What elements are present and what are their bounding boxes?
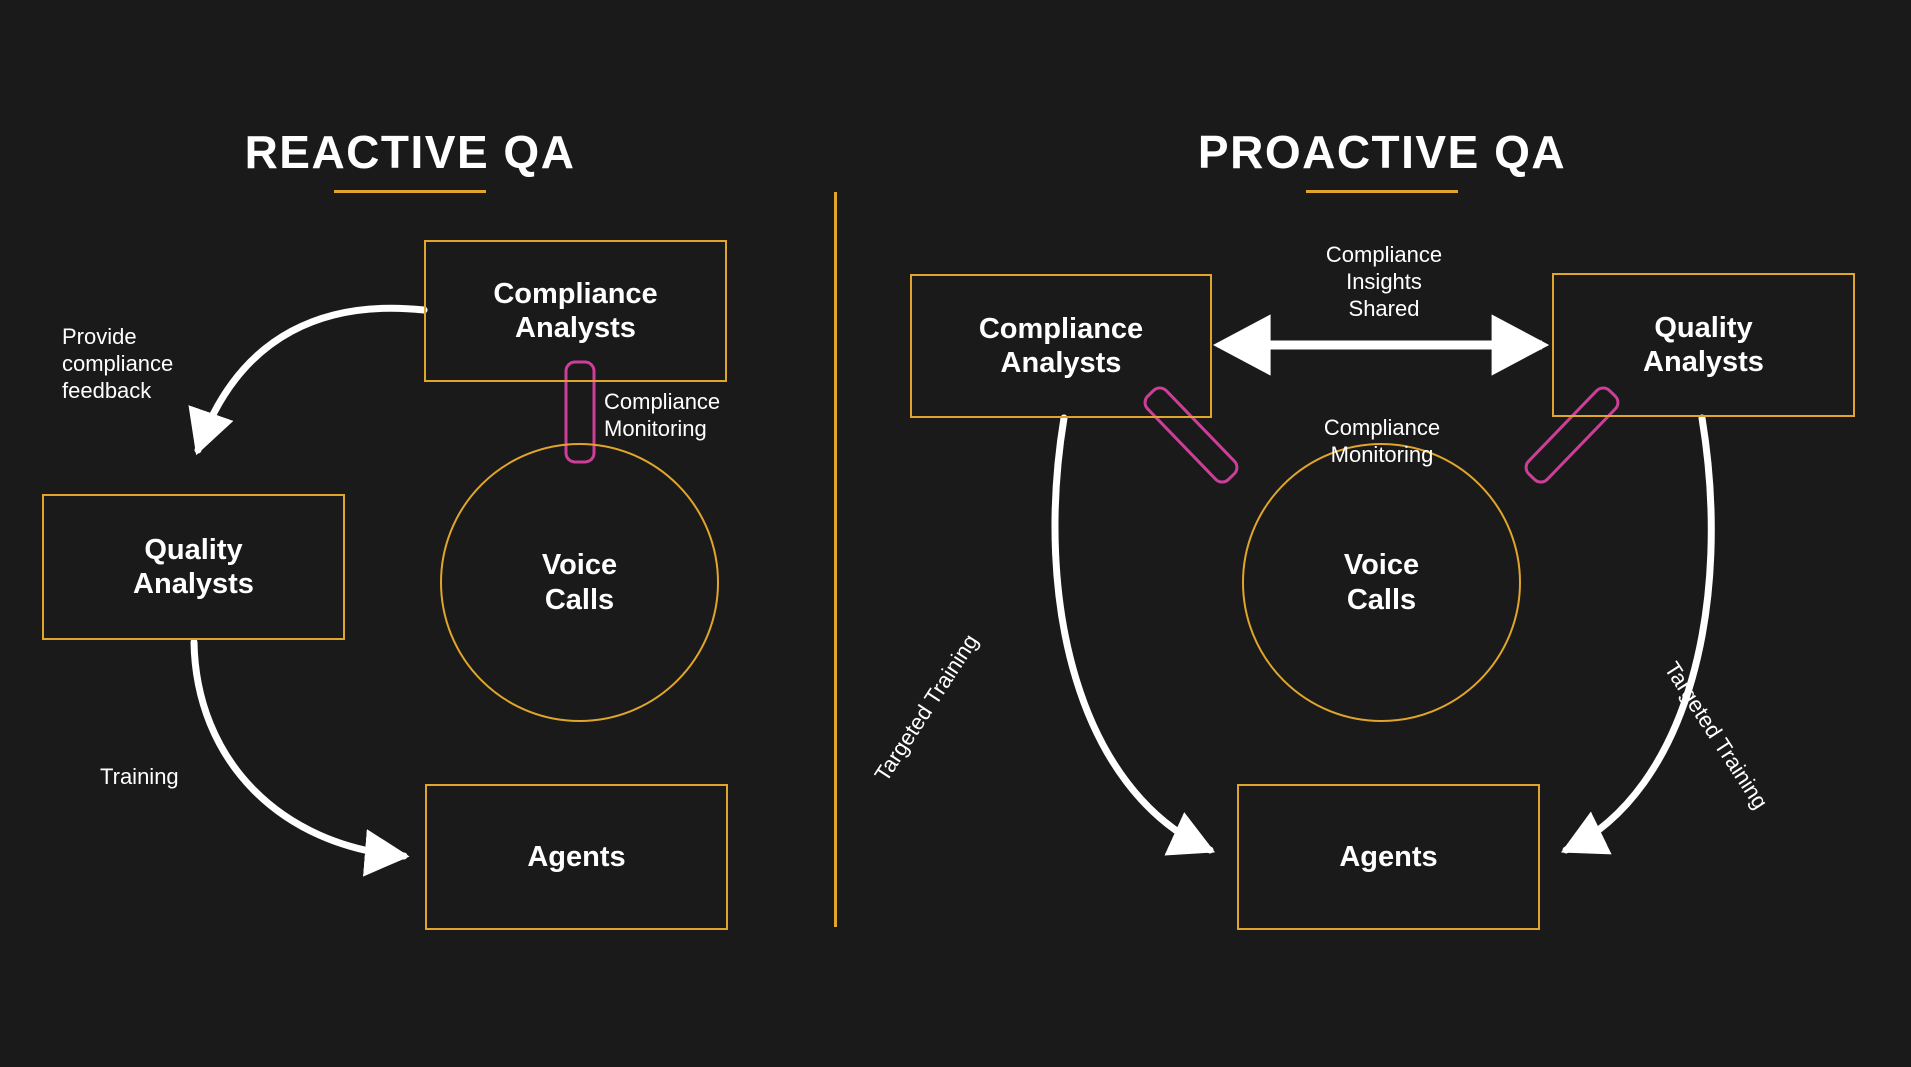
node-agents-reactive[interactable]: Agents [425, 784, 728, 930]
node-label: Agents [527, 840, 625, 874]
edge-label-compliance-monitoring-proactive: Compliance Monitoring [1324, 415, 1440, 469]
edge-targeted-training-left [1055, 418, 1210, 850]
node-voice-calls-proactive[interactable]: Voice Calls [1242, 443, 1521, 722]
edge-label-compliance-monitoring-reactive: Compliance Monitoring [604, 389, 720, 443]
node-quality-analysts-proactive[interactable]: Quality Analysts [1552, 273, 1855, 417]
node-label: Quality Analysts [1643, 311, 1764, 379]
node-voice-calls-reactive[interactable]: Voice Calls [440, 443, 719, 722]
node-label: Compliance Analysts [493, 277, 657, 345]
edge-targeted-training-right [1566, 418, 1711, 850]
edge-provide-compliance-feedback [198, 308, 424, 450]
edge-label-provide-compliance-feedback: Provide compliance feedback [62, 324, 173, 404]
edge-label-training: Training [100, 764, 179, 791]
node-label: Voice Calls [1344, 548, 1419, 616]
node-agents-proactive[interactable]: Agents [1237, 784, 1540, 930]
edge-training [194, 642, 404, 856]
node-label: Voice Calls [542, 548, 617, 616]
title-rule-reactive [334, 190, 486, 193]
node-quality-analysts-reactive[interactable]: Quality Analysts [42, 494, 345, 640]
title-rule-proactive [1306, 190, 1458, 193]
node-compliance-analysts-reactive[interactable]: Compliance Analysts [424, 240, 727, 382]
panel-title-reactive: REACTIVE QA [245, 125, 576, 179]
node-label: Agents [1339, 840, 1437, 874]
diagram-canvas: REACTIVE QA Compliance Analysts Quality … [0, 0, 1911, 1067]
panel-title-proactive: PROACTIVE QA [1198, 125, 1566, 179]
node-label: Compliance Analysts [979, 312, 1143, 380]
panel-divider [834, 192, 837, 927]
edge-label-compliance-insights-shared: Compliance Insights Shared [1326, 242, 1442, 322]
node-label: Quality Analysts [133, 533, 254, 601]
node-compliance-analysts-proactive[interactable]: Compliance Analysts [910, 274, 1212, 418]
